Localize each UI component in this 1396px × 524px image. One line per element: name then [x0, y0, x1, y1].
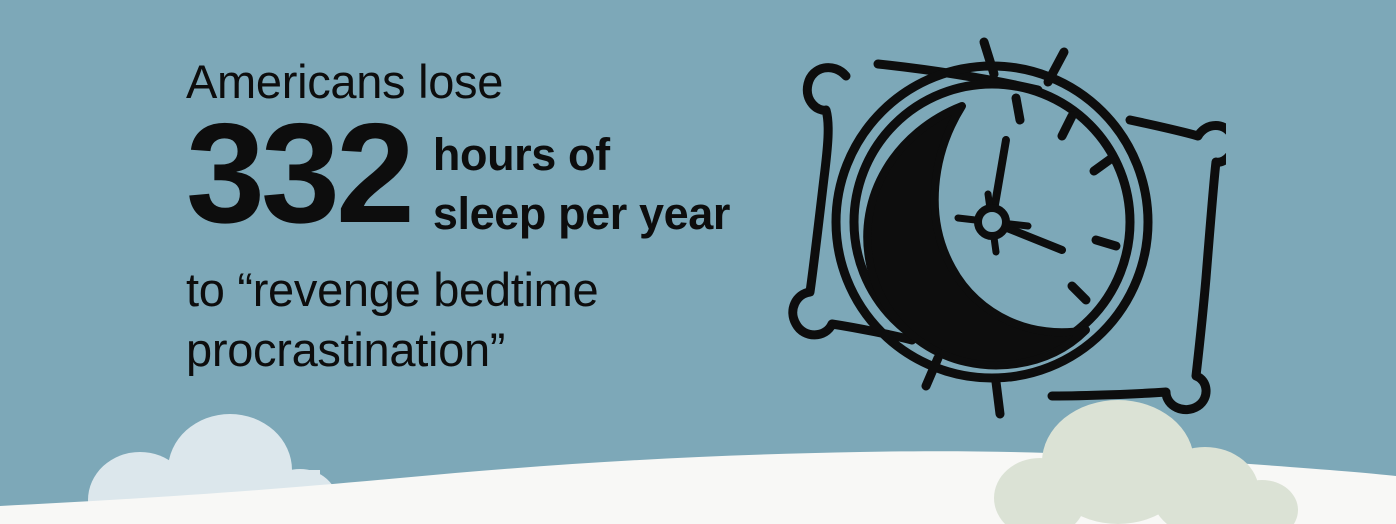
- stat-unit-line-2: sleep per year: [433, 184, 730, 243]
- stat-unit: hours of sleep per year: [433, 125, 730, 244]
- clock-hub-icon: [978, 208, 1006, 236]
- crescent-moon-icon: [867, 106, 1086, 365]
- stat-unit-line-1: hours of: [433, 125, 730, 184]
- cloud-left-shape: [88, 414, 338, 524]
- stat-number: 332: [186, 117, 411, 231]
- headline-tail-line-2: procrastination”: [186, 320, 806, 380]
- tick-3: [1094, 158, 1112, 171]
- tick-5: [1072, 286, 1086, 300]
- tick-4: [1096, 240, 1116, 246]
- headline-tail-line-1: to “revenge bedtime: [186, 260, 806, 320]
- headline-text-block: Americans lose 332 hours of sleep per ye…: [186, 58, 806, 380]
- tick-2: [1062, 116, 1072, 136]
- stat-row: 332 hours of sleep per year: [186, 117, 806, 244]
- hour-tick-marks-icon: [1016, 98, 1116, 300]
- infographic-canvas: Americans lose 332 hours of sleep per ye…: [0, 0, 1396, 524]
- headline-tail-block: to “revenge bedtime procrastination”: [186, 260, 806, 380]
- white-wave-shape: [0, 451, 1396, 524]
- tick-1: [1016, 98, 1020, 120]
- ray-bottom-right: [996, 382, 1000, 414]
- alarm-clock-illustration: [786, 28, 1226, 428]
